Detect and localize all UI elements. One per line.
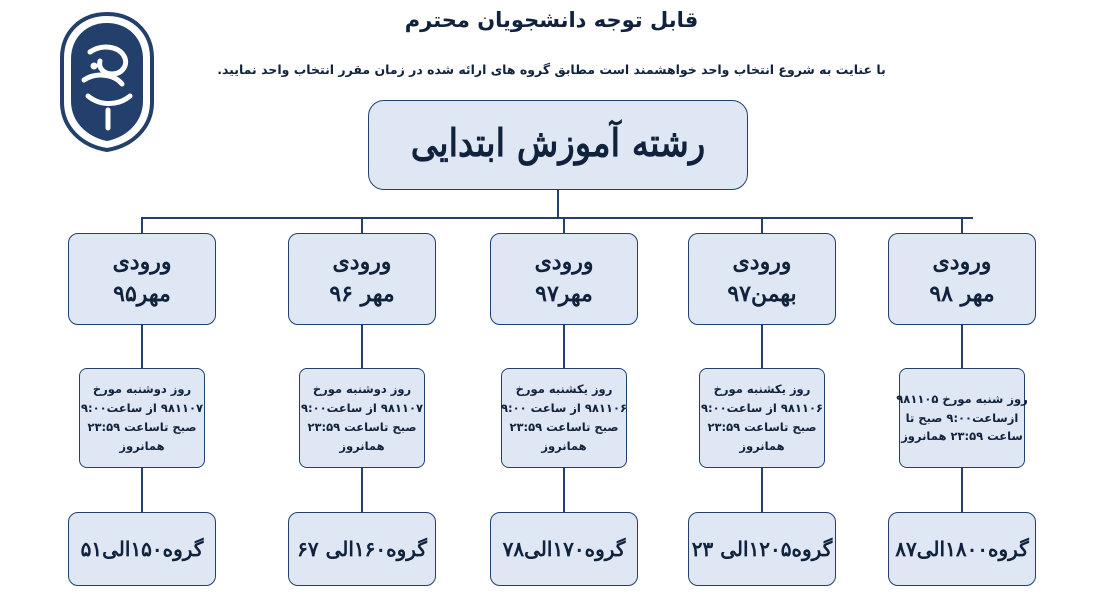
connector-entry-0-to-detail-0 <box>141 325 143 368</box>
connector-entry-2-to-detail-2 <box>563 325 565 368</box>
connector-entry-4-to-detail-4 <box>961 325 963 368</box>
group-node-4[interactable]: گروه۱۸۰۰الی۸۷ <box>888 512 1036 586</box>
group-node-3-label: گروه۱۲۰۵الی ۲۳ <box>692 535 832 564</box>
connector-entry-3-to-detail-3 <box>761 325 763 368</box>
group-node-3[interactable]: گروه۱۲۰۵الی ۲۳ <box>688 512 836 586</box>
group-node-4-label: گروه۱۸۰۰الی۸۷ <box>895 535 1028 564</box>
entry-node-2-line2: مهر۹۷ <box>535 279 594 311</box>
detail-node-3-line-2: صبح تاساعت ۲۳:۵۹ <box>701 418 823 437</box>
detail-node-0-line-2: صبح تاساعت ۲۳:۵۹ <box>81 418 203 437</box>
root-node-label: رشته آموزش ابتدایی <box>411 117 705 172</box>
page-title: قابل توجه دانشجویان محترم <box>0 8 1103 32</box>
detail-node-1-line-3: همانروز <box>301 437 423 456</box>
detail-node-3-line-0: روز یکشنبه مورخ <box>701 380 823 399</box>
entry-node-2-line1: ورودی <box>535 247 594 279</box>
connector-bus-to-entry-0 <box>141 217 143 233</box>
connector-entry-1-to-detail-1 <box>361 325 363 368</box>
detail-node-4[interactable]: روز شنبه مورخ ۹۸۱۱۰۵ ازساعت۹:۰۰ صبح تا س… <box>899 368 1025 468</box>
group-node-0[interactable]: گروه۱۵۰الی۵۱ <box>68 512 216 586</box>
entry-node-2[interactable]: ورودی مهر۹۷ <box>490 233 638 325</box>
group-node-1[interactable]: گروه۱۶۰الی ۶۷ <box>288 512 436 586</box>
entry-node-4-line1: ورودی <box>929 247 994 279</box>
detail-node-0-line-3: همانروز <box>81 437 203 456</box>
connector-detail-3-to-group-3 <box>761 468 763 512</box>
connector-detail-4-to-group-4 <box>961 468 963 512</box>
detail-node-2-line-3: همانروز <box>501 437 627 456</box>
detail-node-2[interactable]: روز یکشنبه مورخ ۹۸۱۱۰۶ از ساعت ۹:۰۰ صبح … <box>501 368 627 468</box>
connector-root-stem <box>557 190 559 218</box>
connector-bus-to-entry-1 <box>361 217 363 233</box>
detail-node-3-line-3: همانروز <box>701 437 823 456</box>
detail-node-0-line-0: روز دوشنبه مورخ <box>81 380 203 399</box>
entry-node-3-line2: بهمن۹۷ <box>727 279 796 311</box>
entry-node-3[interactable]: ورودی بهمن۹۷ <box>688 233 836 325</box>
detail-node-3[interactable]: روز یکشنبه مورخ ۹۸۱۱۰۶ از ساعت۹:۰۰ صبح ت… <box>699 368 825 468</box>
root-node-field-of-study[interactable]: رشته آموزش ابتدایی <box>368 100 748 190</box>
connector-bus-to-entry-4 <box>961 217 963 233</box>
detail-node-2-line-0: روز یکشنبه مورخ <box>501 380 627 399</box>
detail-node-1-line-1: ۹۸۱۱۰۷ از ساعت۹:۰۰ <box>301 399 423 418</box>
detail-node-0-line-1: ۹۸۱۱۰۷ از ساعت۹:۰۰ <box>81 399 203 418</box>
svg-text:دانشگاه فرهنگیان: دانشگاه فرهنگیان <box>50 10 57 14</box>
entry-node-4[interactable]: ورودی مهر ۹۸ <box>888 233 1036 325</box>
connector-detail-1-to-group-1 <box>361 468 363 512</box>
group-node-0-label: گروه۱۵۰الی۵۱ <box>81 535 204 564</box>
connector-bus-to-entry-2 <box>563 217 565 233</box>
entry-node-0[interactable]: ورودی مهر۹۵ <box>68 233 216 325</box>
detail-node-0[interactable]: روز دوشنبه مورخ ۹۸۱۱۰۷ از ساعت۹:۰۰ صبح ت… <box>79 368 205 468</box>
detail-node-4-line-2: ساعت ۲۳:۵۹ همانروز <box>896 427 1027 446</box>
connector-detail-2-to-group-2 <box>563 468 565 512</box>
farhangian-university-logo-icon: دانشگاه فرهنگیان <box>50 10 165 175</box>
connector-bus-to-entry-3 <box>761 217 763 233</box>
detail-node-3-line-1: ۹۸۱۱۰۶ از ساعت۹:۰۰ <box>701 399 823 418</box>
entry-node-4-line2: مهر ۹۸ <box>929 279 994 311</box>
entry-node-0-line2: مهر۹۵ <box>113 279 172 311</box>
entry-node-1[interactable]: ورودی مهر ۹۶ <box>288 233 436 325</box>
entry-node-1-line1: ورودی <box>329 247 394 279</box>
detail-node-1-line-2: صبح تاساعت ۲۳:۵۹ <box>301 418 423 437</box>
entry-node-0-line1: ورودی <box>113 247 172 279</box>
page-subtitle: با عنایت به شروع انتخاب واحد خواهشمند اس… <box>0 62 1103 77</box>
entry-node-3-line1: ورودی <box>727 247 796 279</box>
detail-node-4-line-0: روز شنبه مورخ ۹۸۱۱۰۵ <box>896 390 1027 409</box>
detail-node-2-line-2: صبح تاساعت ۲۳:۵۹ <box>501 418 627 437</box>
connector-horizontal-bus <box>141 217 973 219</box>
detail-node-2-line-1: ۹۸۱۱۰۶ از ساعت ۹:۰۰ <box>501 399 627 418</box>
entry-node-1-line2: مهر ۹۶ <box>329 279 394 311</box>
connector-detail-0-to-group-0 <box>141 468 143 512</box>
detail-node-1[interactable]: روز دوشنبه مورخ ۹۸۱۱۰۷ از ساعت۹:۰۰ صبح ت… <box>299 368 425 468</box>
group-node-2-label: گروه۱۷۰الی۷۸ <box>503 535 626 564</box>
group-node-2[interactable]: گروه۱۷۰الی۷۸ <box>490 512 638 586</box>
detail-node-4-line-1: ازساعت۹:۰۰ صبح تا <box>896 409 1027 428</box>
detail-node-1-line-0: روز دوشنبه مورخ <box>301 380 423 399</box>
group-node-1-label: گروه۱۶۰الی ۶۷ <box>297 535 427 564</box>
